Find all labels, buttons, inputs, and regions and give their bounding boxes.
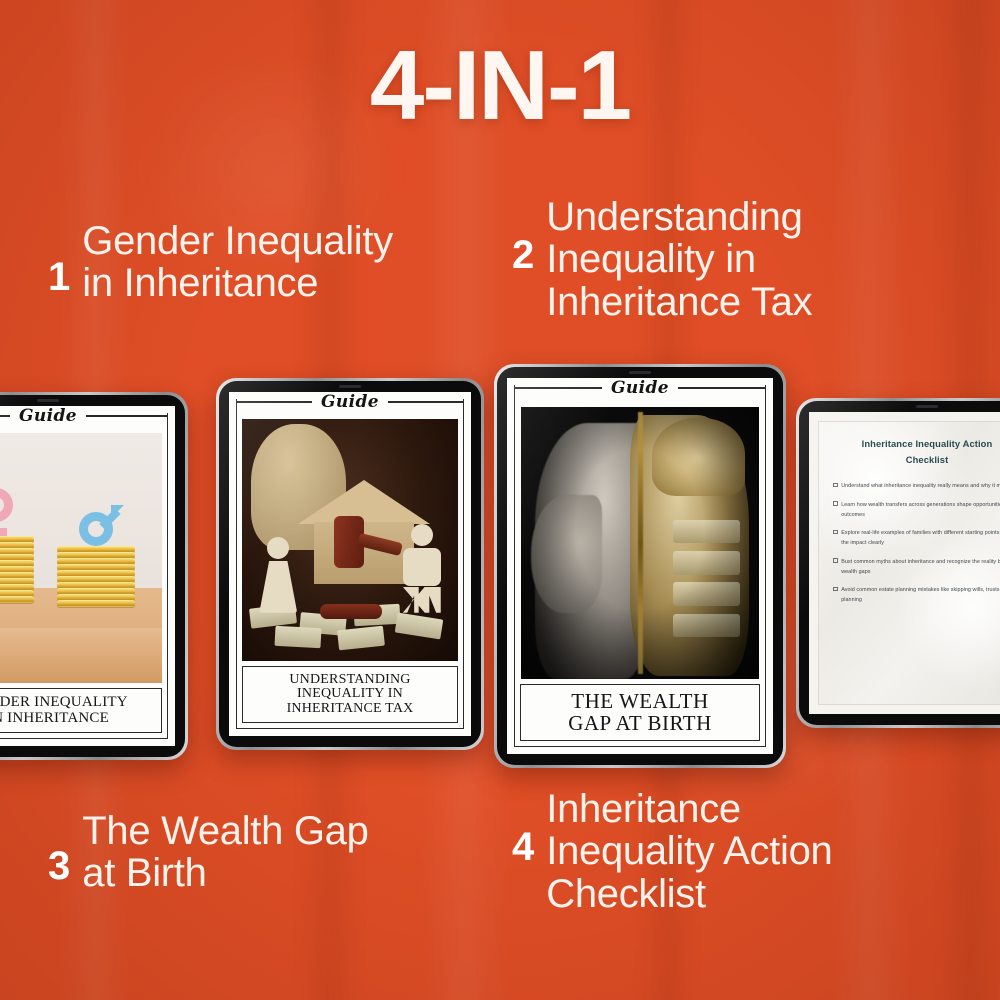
page-title: 4-IN-1: [0, 36, 1000, 134]
checklist-item-label: Avoid common estate planning mistakes li…: [841, 585, 1000, 605]
rule-left: [515, 387, 602, 388]
item-label-2: Understanding Inequality in Inheritance …: [546, 196, 812, 323]
tablet-mockup-3: Guide: [494, 364, 786, 768]
checkbox-icon[interactable]: [833, 483, 838, 488]
tablet-screen-4: Inheritance Inequality Action Checklist …: [809, 412, 1000, 714]
checkbox-icon[interactable]: [833, 558, 838, 563]
checklist-item[interactable]: Bust common myths about inheritance and …: [833, 557, 1000, 577]
camera-icon: [339, 385, 361, 388]
checkbox-icon[interactable]: [833, 501, 838, 506]
checklist-item-label: Explore real-life examples of families w…: [841, 528, 1000, 548]
item-number-4: 4: [512, 826, 534, 868]
tablet-screen-2: Guide: [229, 392, 471, 736]
checklist-heading: Inheritance Inequality Action Checklist: [833, 436, 1000, 467]
cover-image-bust: [521, 407, 759, 679]
checklist-item-label: Understand what inheritance inequality r…: [841, 481, 1000, 491]
cover-image-gavel: [242, 419, 458, 661]
item-number-1: 1: [48, 256, 70, 298]
guide-badge-2: Guide: [312, 392, 388, 412]
list-item-4: 4 Inheritance Inequality Action Checklis…: [512, 788, 952, 915]
list-item-3: 3 The Wealth Gap at Birth: [48, 810, 508, 895]
checklist-item[interactable]: Understand what inheritance inequality r…: [833, 481, 1000, 491]
camera-icon: [629, 371, 651, 374]
item-label-4: Inheritance Inequality Action Checklist: [546, 788, 832, 915]
cover-title-1: GENDER INEQUALITY IN INHERITANCE: [0, 695, 128, 726]
checklist-item-label: Learn how wealth transfers across genera…: [841, 500, 1000, 520]
checklist-item[interactable]: Explore real-life examples of families w…: [833, 528, 1000, 548]
camera-icon: [916, 405, 938, 408]
guide-badge-3: Guide: [602, 378, 678, 398]
cover-title-3: THE WEALTH GAP AT BIRTH: [568, 691, 712, 734]
item-label-1: Gender Inequality in Inheritance: [82, 220, 393, 305]
list-item-1: 1 Gender Inequality in Inheritance: [48, 220, 518, 305]
tablet-mockup-4: Inheritance Inequality Action Checklist …: [796, 398, 1000, 728]
rule-left: [237, 401, 312, 402]
tablet-screen-3: Guide: [507, 378, 773, 754]
guide-badge-1: Guide: [10, 406, 86, 426]
checkbox-icon[interactable]: [833, 587, 838, 592]
cover-title-2: UNDERSTANDING INEQUALITY IN INHERITANCE …: [287, 673, 414, 716]
tablet-mockup-2: Guide: [216, 378, 484, 750]
list-item-2: 2 Understanding Inequality in Inheritanc…: [512, 196, 932, 323]
item-number-2: 2: [512, 234, 534, 276]
checklist-item[interactable]: Learn how wealth transfers across genera…: [833, 500, 1000, 520]
rule-left: [0, 415, 10, 416]
cover-image-coins: [0, 433, 162, 683]
tablet-screen-1: Guide: [0, 406, 175, 746]
rule-right: [86, 415, 167, 416]
camera-icon: [37, 399, 59, 402]
item-number-3: 3: [48, 845, 70, 887]
checklist-item[interactable]: Avoid common estate planning mistakes li…: [833, 585, 1000, 605]
checklist-item-label: Bust common myths about inheritance and …: [841, 557, 1000, 577]
tablet-mockup-1: Guide: [0, 392, 188, 760]
rule-right: [678, 387, 765, 388]
rule-right: [388, 401, 463, 402]
checkbox-icon[interactable]: [833, 530, 838, 535]
item-label-3: The Wealth Gap at Birth: [82, 810, 368, 895]
